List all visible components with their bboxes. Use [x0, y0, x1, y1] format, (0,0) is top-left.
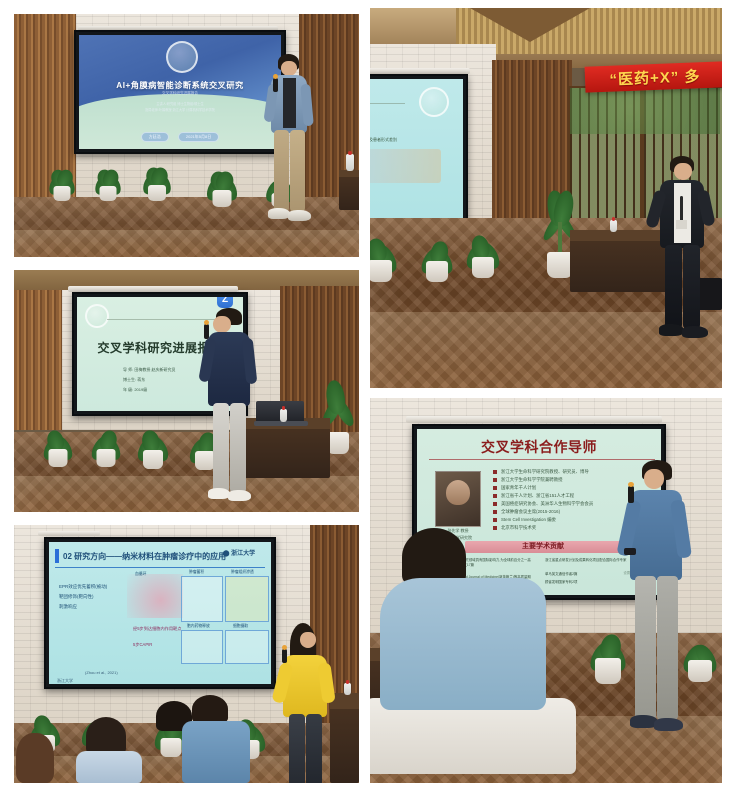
hair-long — [16, 733, 54, 783]
photo-top-left[interactable]: AI+角膜病智能诊断系统交叉研究 交叉学科研究进展报告 主讲人:研究组 博士生物… — [14, 14, 359, 257]
audience-member — [74, 717, 144, 783]
wall-wood-slats — [14, 290, 66, 430]
speaker-person — [276, 623, 336, 783]
slide-1: AI+角膜病智能诊断系统交叉研究 交叉学科研究进展报告 主讲人:研究组 博士生物… — [79, 35, 281, 149]
slide-5-bullet-4: 浙江省千人计划、浙江省151人才工程 — [493, 493, 574, 500]
photo-middle-left[interactable]: Z 交叉学科研究进展报告 导 师: 田梅教授 赵庆新研究员 博士生: 蒋东 年 … — [14, 270, 359, 512]
wrist-watch — [624, 548, 636, 555]
leg-left — [306, 714, 322, 783]
potted-plant — [80, 415, 132, 467]
face — [300, 632, 316, 648]
university-emblem-icon — [166, 41, 198, 73]
water-bottle — [344, 683, 351, 695]
projection-screen-4: 02 研究方向——纳米材料在肿瘤诊疗中的应用 ⬤ 浙江大学 EPR效应优先蓄积(… — [44, 537, 276, 689]
slide-1-title: AI+角膜病智能诊断系统交叉研究 — [79, 79, 281, 91]
projection-screen-2: 需求增加: 医疗科技: 对于医护人员及患者形式差别 避免副作用发生: 构成像效果… — [370, 74, 468, 238]
potted-plant — [370, 220, 410, 282]
bullet-text: 美国癌症研究协会、美洲华人生物科学学会会员 — [501, 501, 593, 506]
slide-4-title-accent — [55, 549, 59, 563]
lanyard — [680, 196, 683, 222]
potted-plant — [38, 157, 86, 201]
slide-4-label-4: 胞内药物释放 — [187, 624, 210, 629]
slide-4-label-3: 肿瘤组织渗透 — [231, 570, 254, 575]
outdoor-greenery — [570, 88, 720, 134]
slide-1-badge-name: 方廷浩 — [141, 132, 169, 142]
room-scene-3: Z 交叉学科研究进展报告 导 师: 田梅教授 赵庆新研究员 博士生: 蒋东 年 … — [14, 270, 359, 512]
slide-1-detail-1: 主讲人:研究组 博士生物组/硕士生 — [79, 101, 281, 106]
torso — [76, 751, 142, 783]
slide-5-bullet-6: 全球肿瘤会议主席(2015-2016) — [493, 509, 560, 516]
name-badge — [676, 220, 687, 229]
seated-colleague — [380, 528, 560, 728]
water-bottle — [346, 154, 354, 171]
shoe-right — [208, 488, 230, 499]
screen-housing — [38, 531, 100, 536]
slide-5-title: 交叉学科合作导师 — [417, 437, 661, 457]
leg-right — [665, 245, 682, 329]
hair — [192, 695, 228, 723]
potted-plant — [32, 415, 84, 467]
slide-1-detail-2: 指导老师:叶娟教授 浙江大学 计算机科学技术学院 — [79, 107, 281, 112]
slide-3-meta-3: 年 级: 2019级 — [123, 387, 147, 393]
slide-4-citation: (Zhou et al., 2021) — [85, 670, 118, 675]
slide-4-bullet-1: EPR效应优先蓄积(被动) — [59, 584, 107, 591]
bullet-text: Stem Cell Investigation 编委 — [501, 517, 556, 522]
shoe-left — [682, 326, 708, 338]
shoe-left — [288, 210, 311, 221]
audience-member — [14, 733, 74, 783]
advisor-portrait — [435, 471, 481, 527]
slide-4-bullet-3: 刺激响应 — [59, 604, 77, 611]
face — [213, 316, 231, 333]
bullet-text: 浙江大学生命科学研究院教授、研究员、博导 — [501, 469, 589, 474]
photo-top-right[interactable]: “医药+X” 多 需求增加: 医疗科技: 对于医护人员及患者形式差别 避免副作用… — [370, 8, 722, 388]
microphone — [204, 324, 209, 339]
slide-4-label-1: 血循环 — [135, 572, 146, 577]
microphone — [273, 78, 278, 92]
leg-left — [290, 130, 305, 212]
slide-1-badge-date: 2021年5月8日 — [178, 132, 219, 142]
slide-2-diagram — [370, 149, 441, 183]
slide-5-bullet-5: 美国癌症研究协会、美洲华人生物科学学会会员 — [493, 501, 593, 508]
slide-4-panel-c — [181, 630, 223, 664]
slide-5-bullet-7: Stem Cell Investigation 编委 — [493, 517, 556, 524]
bullet-text: 全球肿瘤会议主席(2015-2016) — [501, 509, 560, 514]
slide-4-title: 02 研究方向——纳米材料在肿瘤诊疗中的应用 — [63, 551, 226, 562]
slide-5-bullet-1: 浙江大学生命科学研究院教授、研究员、博导 — [493, 469, 589, 476]
torso — [182, 721, 250, 783]
slide-4-footer: 浙江大学 — [57, 678, 73, 684]
potted-plant — [84, 157, 132, 201]
slide-4-diagram-arrow — [127, 574, 183, 618]
slide-4-label-5: 细胞摄取 — [233, 624, 248, 629]
photo-bottom-left[interactable]: 02 研究方向——纳米材料在肿瘤诊疗中的应用 ⬤ 浙江大学 EPR效应优先蓄积(… — [14, 525, 359, 783]
slide-5-bullet-2: 浙江大学生命科学学院兼聘教授 — [493, 477, 562, 484]
face — [281, 61, 297, 76]
bullet-text: 浙江省千人计划、浙江省151人才工程 — [501, 493, 574, 498]
leg-left — [230, 403, 246, 493]
shoe-left — [654, 718, 683, 731]
university-emblem-icon — [85, 304, 109, 328]
event-banner: “医药+X” 多 — [585, 61, 722, 92]
bullet-text: 国家青年千人计划 — [501, 485, 536, 490]
potted-plant — [194, 159, 250, 207]
audience-member — [182, 695, 252, 783]
zhejiang-university-logo-icon: ⬤ 浙江大学 — [217, 549, 261, 560]
leg-right — [289, 714, 305, 783]
speaker-person — [200, 308, 262, 508]
potted-plant — [454, 218, 512, 278]
slide-1-subtitle: 交叉学科研究进展报告 — [79, 91, 281, 96]
shoe-left — [228, 490, 251, 501]
slide-4-note-1: 经5步到达细胞内作用靶点 — [133, 626, 181, 632]
slide-4-panel-b — [225, 576, 269, 622]
slide-4-note-2: 5步CAPIR — [133, 642, 152, 648]
slide-2-bullet-3: 对于医护人员及患者形式差别 — [370, 137, 397, 143]
slide-3-meta-2: 博士生: 蒋东 — [123, 377, 145, 383]
leg-right — [274, 130, 289, 212]
side-table — [339, 170, 359, 210]
microphone — [282, 649, 287, 663]
room-scene-4: 02 研究方向——纳米材料在肿瘤诊疗中的应用 ⬤ 浙江大学 EPR效应优先蓄积(… — [14, 525, 359, 783]
room-scene-1: AI+角膜病智能诊断系统交叉研究 交叉学科研究进展报告 主讲人:研究组 博士生物… — [14, 14, 359, 257]
shoe-right — [268, 208, 290, 219]
slide-4-bullet-2: 靶团修饰(靶向性) — [59, 594, 94, 601]
projection-screen-1: AI+角膜病智能诊断系统交叉研究 交叉学科研究进展报告 主讲人:研究组 博士生物… — [74, 30, 286, 154]
water-bottle — [280, 409, 287, 422]
leg-left — [657, 576, 678, 720]
slide-2-rule — [370, 103, 405, 104]
leg-left — [683, 245, 700, 329]
inner-dark-shirt — [283, 78, 296, 128]
speaker-person — [652, 156, 718, 346]
water-bottle — [610, 220, 617, 232]
event-banner-text: “医药+X” 多 — [585, 61, 722, 92]
speaker-person — [622, 460, 696, 760]
shoe-right — [659, 324, 684, 336]
photo-bottom-right[interactable]: 交叉学科合作导师 张先学 教授 生命科学研究院 浙江大学生命科学研究院教授、研究… — [370, 398, 722, 783]
leg-right — [635, 576, 656, 720]
room-scene-5: 交叉学科合作导师 张先学 教授 生命科学研究院 浙江大学生命科学研究院教授、研究… — [370, 398, 722, 783]
potted-plant — [126, 415, 180, 469]
leg-right — [213, 403, 229, 493]
photo-collage: AI+角膜病智能诊断系统交叉研究 交叉学科研究进展报告 主讲人:研究组 博士生物… — [0, 0, 730, 790]
bullet-text: 浙江大学生命科学学院兼聘教授 — [501, 477, 562, 482]
slide-4-panel-a — [181, 576, 223, 622]
slide-4-panel-d — [225, 630, 269, 664]
face — [644, 469, 664, 489]
microphone — [628, 486, 634, 503]
slide-4-label-2: 肿瘤蓄积 — [189, 570, 204, 575]
face — [674, 163, 692, 180]
ceiling-beam — [470, 8, 590, 42]
speaker-person — [262, 54, 322, 244]
slide-4: 02 研究方向——纳米材料在肿瘤诊疗中的应用 ⬤ 浙江大学 EPR效应优先蓄积(… — [49, 542, 271, 684]
hair-ponytail — [86, 717, 126, 755]
slide-4-rule — [55, 567, 265, 568]
potted-plant — [132, 155, 182, 201]
room-scene-2: “医药+X” 多 需求增加: 医疗科技: 对于医护人员及患者形式差别 避免副作用… — [370, 8, 722, 388]
screen-housing — [406, 416, 662, 423]
slide-3-meta-1: 导 师: 田梅教授 赵庆新研究员 — [123, 367, 175, 373]
slide-2: 需求增加: 医疗科技: 对于医护人员及患者形式差别 避免副作用发生: 构成像效果… — [370, 79, 463, 233]
zhejiang-z-logo-icon: Z — [217, 297, 233, 308]
slide-5-bullet-3: 国家青年千人计划 — [493, 485, 536, 492]
university-emblem-icon — [419, 87, 449, 117]
torso-shirt — [380, 578, 546, 710]
